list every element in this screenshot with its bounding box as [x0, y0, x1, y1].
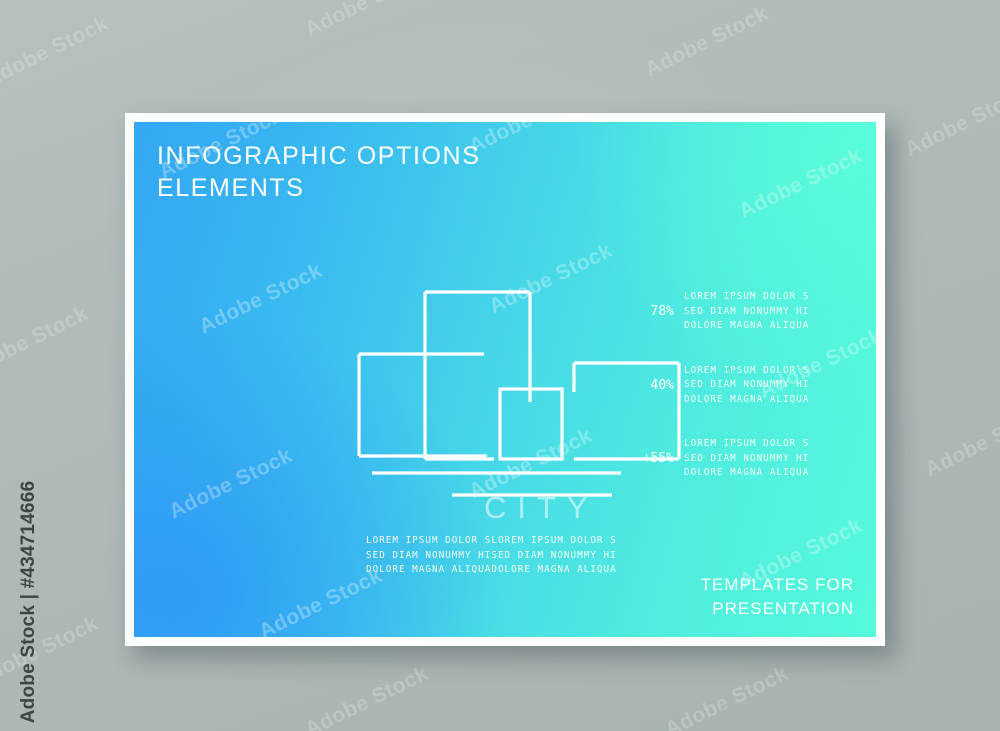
- stock-photo-canvas: Adobe Stock Adobe Stock Adobe Stock Adob…: [0, 0, 1000, 731]
- poster-inner: INFOGRAPHIC OPTIONS ELEMENTS: [134, 122, 876, 637]
- watermark-text: Adobe Stock: [922, 402, 1000, 482]
- chart-bar-3: [500, 389, 562, 459]
- page-title: INFOGRAPHIC OPTIONS ELEMENTS: [157, 140, 480, 204]
- watermark-text: Adobe Stock: [662, 662, 793, 731]
- bottom-copy-column: Lorem ipsum dolor s sed diam nonummy hi …: [366, 534, 491, 578]
- watermark-text: Adobe Stock: [486, 239, 617, 319]
- stat-row: +55% Lorem ipsum dolor s sed diam nonumm…: [626, 437, 852, 481]
- stat-description: Lorem ipsum dolor s sed diam nonummy hi …: [684, 437, 852, 481]
- stat-value: 40%: [626, 378, 684, 393]
- poster-signoff: TEMPLATES FOR PRESENTATION: [701, 573, 854, 621]
- watermark-text: Adobe Stock: [466, 122, 597, 159]
- chart-bar-2: [425, 292, 530, 459]
- watermark-text: Adobe Stock: [302, 662, 433, 731]
- chart-caption-city: CITY: [484, 490, 599, 526]
- poster-card: INFOGRAPHIC OPTIONS ELEMENTS: [125, 113, 885, 646]
- chart-bar-1: [359, 354, 487, 456]
- stock-credit-text: Adobe Stock | #434714666: [18, 481, 40, 723]
- watermark-text: Adobe Stock: [166, 444, 297, 524]
- stat-description: Lorem ipsum dolor s sed diam nonummy hi …: [684, 290, 852, 334]
- stat-value: +55%: [626, 451, 684, 466]
- watermark-text: Adobe Stock: [302, 0, 433, 42]
- watermark-text: Adobe Stock: [902, 82, 1000, 162]
- stats-list: 78% Lorem ipsum dolor s sed diam nonummy…: [626, 290, 852, 481]
- stat-value: 78%: [626, 304, 684, 319]
- bottom-copy-column: Lorem ipsum dolor s sed diam nonummy hi …: [491, 534, 616, 578]
- stat-row: 78% Lorem ipsum dolor s sed diam nonummy…: [626, 290, 852, 334]
- bottom-copy-block: Lorem ipsum dolor s sed diam nonummy hi …: [366, 534, 617, 578]
- stat-description: Lorem ipsum dolor s sed diam nonummy hi …: [684, 364, 852, 408]
- watermark-text: Adobe Stock: [196, 259, 327, 339]
- stock-credit: Adobe Stock | #434714666: [12, 0, 46, 731]
- watermark-text: Adobe Stock: [736, 144, 867, 224]
- watermark-text: Adobe Stock: [642, 2, 773, 82]
- stat-row: 40% Lorem ipsum dolor s sed diam nonummy…: [626, 364, 852, 408]
